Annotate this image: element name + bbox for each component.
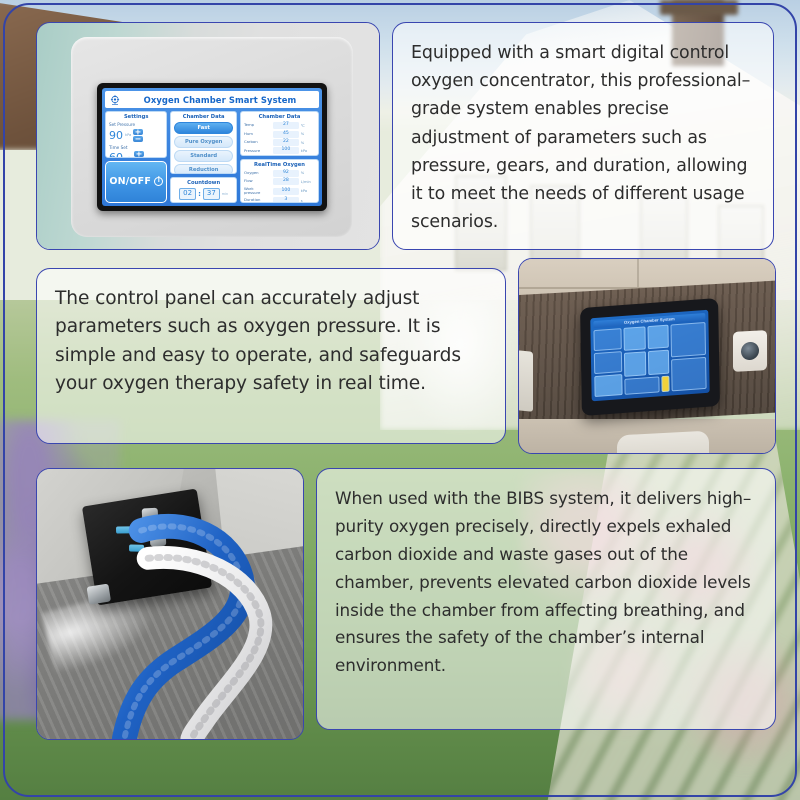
time-set-label: Time Set: [109, 145, 163, 150]
countdown-display: 02 : 37 min: [174, 188, 233, 200]
data-row: Oxygen 92 %: [244, 170, 315, 177]
data-row: Carbon 22 %: [244, 139, 315, 146]
time-increase-button[interactable]: [134, 151, 144, 157]
data-value: 100: [273, 147, 299, 154]
mounted-screen-bezel: Oxygen Chamber System: [580, 298, 720, 416]
feature-text-card-3: When used with the BIBS system, it deliv…: [316, 468, 776, 730]
set-pressure-buttons[interactable]: [133, 129, 143, 142]
countdown-title: Countdown: [174, 180, 233, 187]
data-unit: %: [301, 171, 315, 175]
settings-title: Settings: [109, 114, 163, 121]
left-panel-edge: [518, 350, 533, 412]
data-value: 27: [273, 122, 299, 129]
realtime-oxygen-title: RealTime Oxygen: [244, 162, 315, 169]
data-row: Flow 28 L/min: [244, 178, 315, 185]
chamber-data-title: Chamber Data: [244, 114, 315, 121]
mounted-mode-fast[interactable]: [624, 326, 646, 351]
mounted-mode-reduction[interactable]: [648, 350, 670, 375]
time-set-stepper[interactable]: 60 min: [109, 151, 163, 157]
data-value: 22: [273, 139, 299, 146]
mounted-mode-standard[interactable]: [624, 352, 646, 377]
countdown-panel: Countdown 02 : 37 min: [170, 177, 237, 203]
screen-bezel: Oxygen Chamber Smart System Settings Set…: [97, 83, 327, 211]
time-set-value: 60: [109, 152, 123, 157]
countdown-separator: :: [198, 190, 201, 198]
data-value: 28: [273, 178, 299, 185]
settings-panel: Settings Set Pressure 90 kPa Time Se: [105, 111, 167, 158]
wall-panel-photo: Oxygen Chamber System: [519, 259, 775, 453]
feature-text-3: When used with the BIBS system, it deliv…: [335, 485, 757, 680]
data-unit: kPa: [301, 189, 315, 193]
data-row: Hum 45 %: [244, 131, 315, 138]
feature-text-1: Equipped with a smart digital control ox…: [411, 39, 755, 236]
countdown-minutes: 02: [179, 188, 196, 200]
hose-connection-photo: [37, 469, 303, 739]
mounted-pressure-readout: [624, 376, 659, 395]
realtime-oxygen-panel: RealTime Oxygen Oxygen 92 % Flow 28 L/mi…: [240, 159, 319, 204]
mounted-box-countdown[interactable]: [594, 351, 622, 374]
mode-panel-title: Chamber Data: [174, 114, 233, 121]
wall-outlet-port: [733, 330, 767, 372]
data-unit: L/min: [301, 180, 315, 184]
white-exhaust-hose: [37, 469, 303, 739]
chamber-data-panel: Chamber Data Temp 27 ℃ Hum 45 %: [240, 111, 319, 156]
mounted-col-left: [593, 328, 622, 397]
countdown-seconds: 37: [203, 188, 220, 200]
data-unit: kPa: [301, 149, 315, 153]
data-row: Work pressure 100 kPa: [244, 187, 315, 196]
mounted-hmi-screen[interactable]: Oxygen Chamber System: [590, 310, 709, 402]
feature-text-card-1: Equipped with a smart digital control ox…: [392, 22, 774, 250]
mounted-col-right: [671, 322, 707, 391]
data-row: Duration 3 s: [244, 197, 315, 203]
data-unit: ℃: [301, 124, 315, 128]
on-off-label: ON/OFF: [109, 176, 151, 187]
set-pressure-value: 90: [109, 130, 123, 141]
hmi-column-readouts: Chamber Data Temp 27 ℃ Hum 45 %: [240, 111, 319, 203]
data-key: Flow: [244, 179, 271, 184]
background-chimney-cap: [660, 0, 738, 15]
set-pressure-stepper[interactable]: 90 kPa: [109, 129, 163, 142]
pressure-increase-button[interactable]: [133, 129, 143, 135]
hmi-column-settings: Settings Set Pressure 90 kPa Time Se: [105, 111, 167, 203]
mounted-box-time-set[interactable]: [593, 328, 621, 351]
hmi-title-text: Oxygen Chamber Smart System: [125, 95, 315, 105]
pressure-decrease-button[interactable]: [133, 136, 143, 142]
hmi-column-modes: Chamber Data Fast Pure Oxygen Standard R…: [170, 111, 237, 203]
hmi-body: Settings Set Pressure 90 kPa Time Se: [105, 111, 319, 203]
company-logo-icon: [109, 94, 121, 106]
hmi-screen[interactable]: Oxygen Chamber Smart System Settings Set…: [102, 88, 322, 206]
mounted-col-mid: [624, 325, 671, 395]
data-row: Pressure 100 kPa: [244, 147, 315, 154]
hose-connection-photo-card: [36, 468, 304, 740]
countdown-unit: min: [222, 192, 228, 196]
control-panel-photo-card: Oxygen Chamber Smart System Settings Set…: [36, 22, 380, 250]
feature-text-card-2: The control panel can accurately adjust …: [36, 268, 506, 444]
data-unit: s: [301, 199, 315, 203]
data-key: Carbon: [244, 140, 271, 145]
control-panel-photo: Oxygen Chamber Smart System Settings Set…: [37, 23, 379, 249]
mode-button-reduction[interactable]: Reduction: [174, 164, 233, 174]
data-key: Hum: [244, 132, 271, 137]
data-row: Temp 27 ℃: [244, 122, 315, 129]
mounted-realtime-oxygen-panel: [671, 322, 706, 357]
time-set-unit: min: [125, 156, 132, 158]
mode-button-fast[interactable]: Fast: [174, 122, 233, 134]
feature-text-2: The control panel can accurately adjust …: [55, 285, 487, 398]
mounted-mode-pure-oxygen[interactable]: [647, 325, 669, 350]
time-set-buttons[interactable]: [134, 151, 144, 157]
data-key: Oxygen: [244, 171, 271, 176]
data-key: Duration: [244, 198, 271, 203]
hmi-title-bar: Oxygen Chamber Smart System: [105, 91, 319, 108]
mounted-level-indicator: [662, 375, 670, 392]
data-value: 100: [273, 188, 299, 195]
mode-button-pure-oxygen[interactable]: Pure Oxygen: [174, 136, 233, 148]
data-key: Work pressure: [244, 187, 271, 196]
data-unit: %: [301, 141, 315, 145]
mounted-chamber-data-panel: [671, 356, 706, 391]
on-off-button[interactable]: ON/OFF: [105, 161, 167, 204]
power-icon: [154, 177, 163, 186]
data-value: 3: [273, 197, 299, 203]
mode-panel: Chamber Data Fast Pure Oxygen Standard R…: [170, 111, 237, 174]
data-key: Temp: [244, 123, 271, 128]
mounted-screen-layout: [593, 322, 706, 397]
mode-button-standard[interactable]: Standard: [174, 150, 233, 162]
wall-panel-photo-card: Oxygen Chamber System: [518, 258, 776, 454]
data-value: 45: [273, 131, 299, 138]
set-pressure-unit: kPa: [125, 133, 131, 137]
data-unit: %: [301, 132, 315, 136]
mounted-start-button[interactable]: [594, 374, 622, 397]
data-key: Pressure: [244, 149, 271, 154]
data-value: 92: [273, 170, 299, 177]
basin-edge: [617, 431, 709, 454]
set-pressure-label: Set Pressure: [109, 122, 163, 127]
